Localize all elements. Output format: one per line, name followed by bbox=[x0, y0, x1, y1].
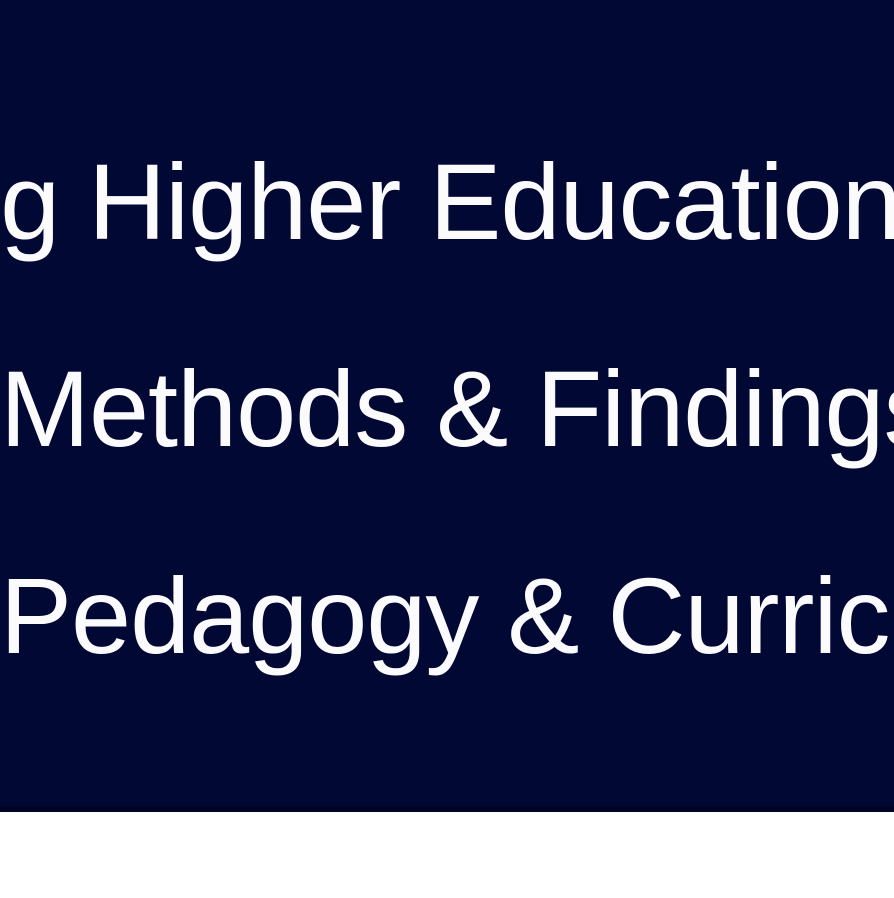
below-panel-whitespace bbox=[0, 812, 894, 898]
headline-text-block: Transforming Higher Education Methods & … bbox=[0, 98, 894, 719]
slide-canvas: Transforming Higher Education Methods & … bbox=[0, 0, 894, 898]
headline-line-2: Methods & Findings Research Seminar (M&F… bbox=[0, 305, 894, 512]
headline-line-3: Pedagogy & Curriculum Committee (PCC) bbox=[0, 512, 894, 719]
headline-line-3-prefix: Pedagogy & Curriculum Committee bbox=[0, 555, 894, 676]
navy-banner-panel: Transforming Higher Education Methods & … bbox=[0, 0, 894, 812]
headline-line-2-prefix: Methods & Findings Research Seminar bbox=[0, 348, 894, 469]
headline-line-1: Transforming Higher Education bbox=[0, 98, 894, 305]
